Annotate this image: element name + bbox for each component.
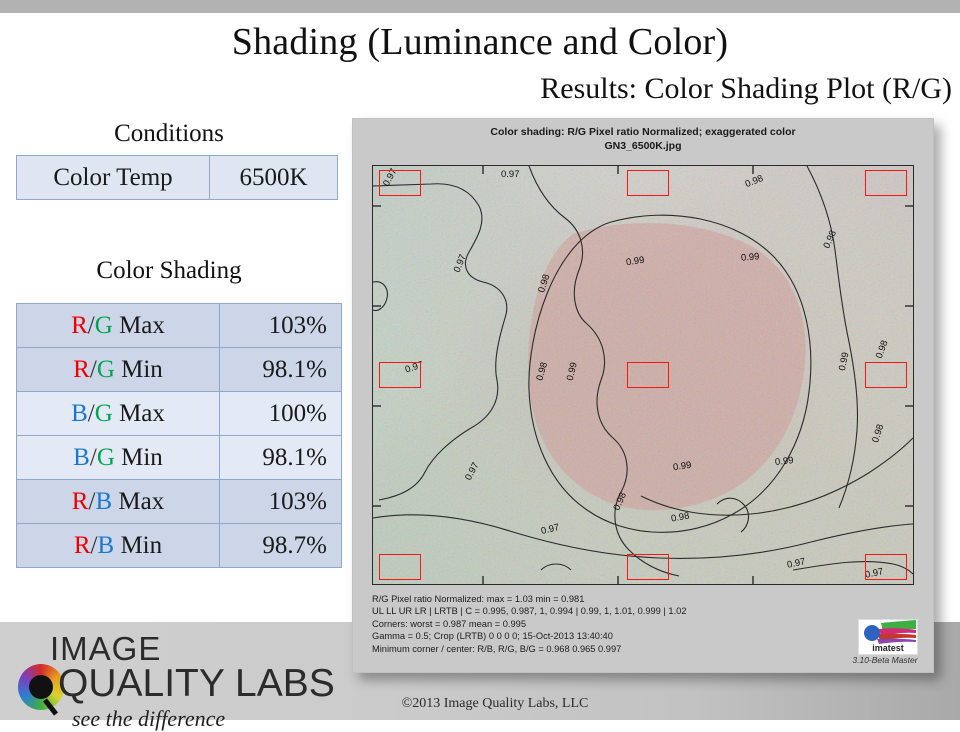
color-shading-label: B/G Max [17,392,220,436]
table-row: R/B Max103% [17,480,342,524]
roi-middle-right [865,362,907,388]
color-shading-label: B/G Min [17,436,220,480]
roi-lower-center [627,554,669,580]
conditions-table: Color Temp 6500K [16,155,338,200]
roi-upper-center [627,170,669,196]
contour-label: 0.97 [501,169,520,180]
roi-upper-right [865,170,907,196]
color-shading-value: 98.1% [220,436,342,480]
color-shading-label: R/B Min [17,524,220,568]
color-shading-value: 98.7% [220,524,342,568]
table-row: R/B Min98.7% [17,524,342,568]
logo-line-quality-labs: QUALITY LABS [58,662,335,706]
image-quality-labs-logo: IMAGE QUALITY LABS see the difference [12,628,342,718]
plot-title: Color shading: R/G Pixel ratio Normalize… [353,125,933,153]
color-shading-label: R/B Max [17,480,220,524]
roi-middle-left [379,362,421,388]
plot-title-line2: GN3_6500K.jpg [353,139,933,153]
roi-upper-left [379,170,421,196]
page-title: Shading (Luminance and Color) [0,20,960,64]
table-row: R/G Min98.1% [17,348,342,392]
roi-center [627,362,669,388]
roi-lower-left [379,554,421,580]
table-row: Color Temp 6500K [17,156,338,200]
color-shading-caption: Color Shading [14,257,324,285]
plot-stats-line: Minimum corner / center: R/B, R/G, B/G =… [372,643,792,655]
color-shading-value: 103% [220,480,342,524]
conditions-value: 6500K [210,156,338,200]
plot-stats-line: Gamma = 0.5; Crop (LRTB) 0 0 0 0; 15-Oct… [372,630,792,642]
imatest-version: 3.10-Beta Master [840,655,930,665]
table-row: B/G Max100% [17,392,342,436]
table-row: R/G Max103% [17,304,342,348]
color-shading-value: 103% [220,304,342,348]
table-row: B/G Min98.1% [17,436,342,480]
color-shading-plot-panel: Color shading: R/G Pixel ratio Normalize… [352,118,934,673]
slide: Shading (Luminance and Color) Results: C… [0,0,960,720]
imatest-logo: imatest [858,619,918,655]
logo-tagline: see the difference [72,706,225,732]
plot-stats-line: UL LL UR LR | LRTB | C = 0.995, 0.987, 1… [372,605,792,617]
conditions-label: Color Temp [17,156,210,200]
page-subtitle: Results: Color Shading Plot (R/G) [52,72,952,106]
plot-stats: R/G Pixel ratio Normalized: max = 1.03 m… [372,593,792,655]
plot-title-line1: Color shading: R/G Pixel ratio Normalize… [353,125,933,139]
shading-image-area: 0.970.970.980.970.980.990.990.980.970.98… [372,165,914,585]
color-shading-label: R/G Min [17,348,220,392]
color-shading-value: 100% [220,392,342,436]
imatest-wordmark: imatest [859,643,917,653]
contour-label: 0.99 [741,251,760,264]
conditions-caption: Conditions [14,120,324,148]
plot-stats-line: Corners: worst = 0.987 mean = 0.995 [372,618,792,630]
plot-stats-line: R/G Pixel ratio Normalized: max = 1.03 m… [372,593,792,605]
color-shading-value: 98.1% [220,348,342,392]
roi-lower-right [865,554,907,580]
contour-label: 0.99 [774,455,794,468]
color-shading-label: R/G Max [17,304,220,348]
copyright-notice: ©2013 Image Quality Labs, LLC [330,696,660,712]
color-shading-table: R/G Max103%R/G Min98.1%B/G Max100%B/G Mi… [16,303,342,568]
top-gray-band [0,0,960,13]
